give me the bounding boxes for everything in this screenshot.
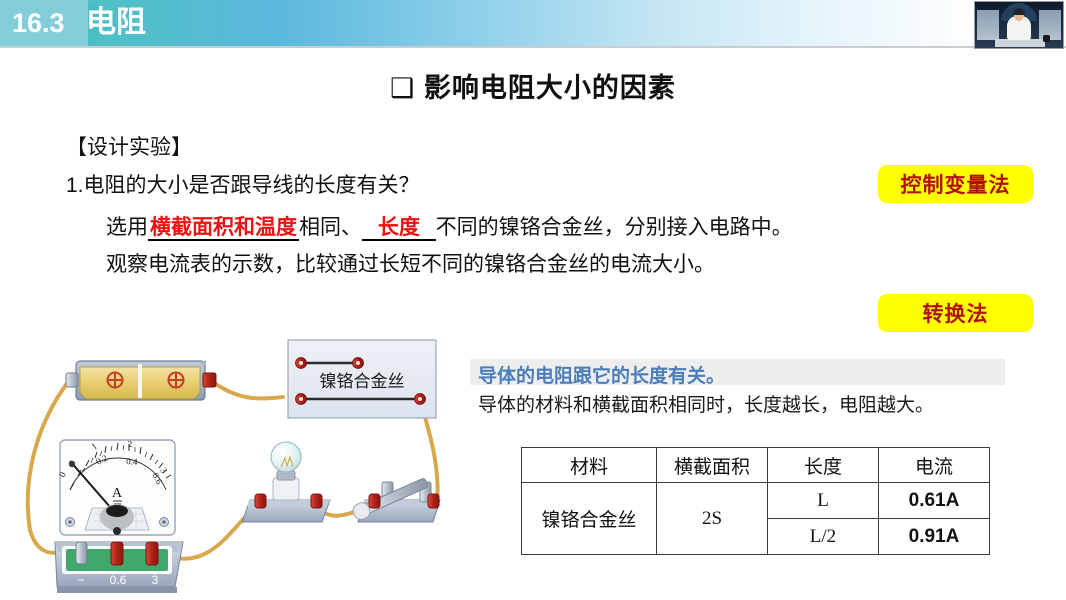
th-material: 材料 (522, 448, 657, 483)
ammeter: 0 1 0.2 2 0.4 3 0.6 A (55, 439, 183, 593)
lamp-holder (242, 442, 330, 522)
video-desk-object (1043, 35, 1050, 42)
badge-conversion-method: 转换法 (878, 294, 1033, 332)
ammeter-tick-2: 2 (127, 439, 132, 449)
question-line-1: 1.电阻的大小是否跟导线的长度有关？ (66, 171, 420, 201)
header-section-title: 电阻 (86, 4, 146, 42)
instruction-line-2: 选用横截面积和温度相同、 长度 不同的镍铬合金丝，分别接入电路中。 (106, 213, 793, 243)
battery-holder (66, 360, 216, 400)
ammeter-terminal-label-minus: − (77, 573, 84, 587)
blank-cross-section-temperature: 横截面积和温度 (148, 216, 299, 241)
knife-switch (351, 475, 440, 522)
instruction-mid: 相同、 (299, 216, 362, 239)
table-row: 镍铬合金丝 2S L 0.61A (522, 483, 990, 519)
td-length-2: L/2 (768, 519, 879, 555)
slide-root: 16.3 电阻 ❑ 影响电阻大小的因素 【设计实验】 1.电阻的大小是否跟导线的… (0, 0, 1066, 600)
td-material: 镍铬合金丝 (522, 483, 657, 555)
td-length-1: L (768, 483, 879, 519)
ammeter-tick-0-4: 0.4 (126, 456, 138, 467)
slide-header-bar (0, 0, 1066, 46)
ammeter-unit-label: A (112, 486, 123, 501)
th-current: 电流 (879, 448, 990, 483)
conclusion-headline: 导体的电阻跟它的长度有关。 (478, 361, 725, 388)
instruction-line-3: 观察电流表的示数，比较通过长短不同的镍铬合金丝的电流大小。 (106, 250, 715, 280)
td-current-1: 0.61A (879, 483, 990, 519)
instruction-post: 不同的镍铬合金丝，分别接入电路中。 (436, 216, 793, 239)
td-current-2: 0.91A (879, 519, 990, 555)
bulb-glass (271, 442, 301, 472)
ammeter-terminal-label-0-6: 0.6 (110, 573, 127, 587)
ammeter-terminal-label-3: 3 (152, 573, 159, 587)
presenter-video-thumbnail[interactable] (974, 1, 1064, 49)
th-cross-section: 横截面积 (657, 448, 768, 483)
design-experiment-label: 【设计实验】 (66, 133, 192, 163)
video-studio-panel-left (977, 10, 999, 40)
header-divider (0, 46, 1066, 48)
th-length: 长度 (768, 448, 879, 483)
conclusion-detail: 导体的材料和横截面积相同时，长度越长，电阻越大。 (478, 390, 934, 417)
badge-control-variables: 控制变量法 (878, 165, 1033, 203)
blank-length: 长度 (376, 216, 422, 241)
video-presenter-hair (1013, 8, 1025, 15)
header-section-number: 16.3 (12, 7, 65, 39)
table-header-row: 材料 横截面积 长度 电流 (522, 448, 990, 483)
page-title: ❑ 影响电阻大小的因素 (0, 66, 1066, 105)
board-label: 镍铬合金丝 (320, 372, 405, 391)
video-desk (995, 39, 1045, 47)
td-cross-section: 2S (657, 483, 768, 555)
experiment-data-table: 材料 横截面积 长度 电流 镍铬合金丝 2S L 0.61A L/2 0.91A (521, 447, 990, 555)
nichrome-wire-board: 镍铬合金丝 (288, 340, 436, 418)
wire-battery-to-board (213, 382, 283, 398)
instruction-pre: 选用 (106, 216, 148, 239)
circuit-diagram: 镍铬合金丝 (0, 330, 470, 600)
